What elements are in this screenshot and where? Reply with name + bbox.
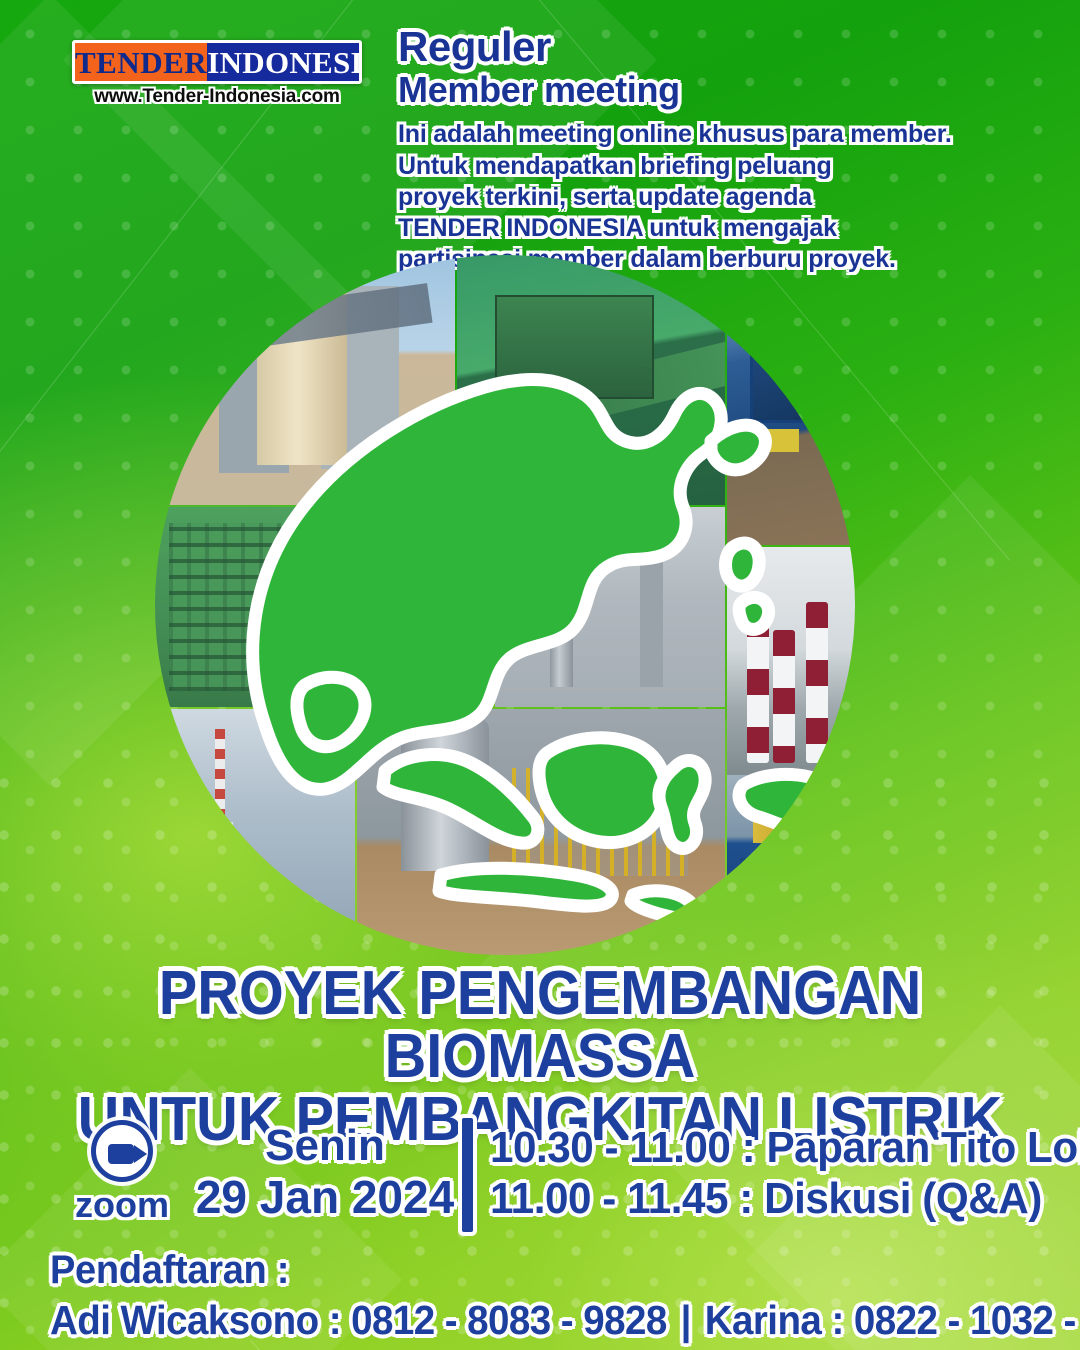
contact-separator: | <box>677 1297 695 1343</box>
schedule-row: zoom Senin 29 Jan 2024 10.30 - 11.00 : P… <box>62 1118 1052 1236</box>
registration-label: Pendaftaran : <box>50 1248 1000 1293</box>
event-date-block: Senin 29 Jan 2024 <box>190 1122 460 1223</box>
tender-indonesia-logo[interactable]: TENDER INDONESIA www.Tender-Indonesia.co… <box>72 40 362 108</box>
collage-tile-steel-framework <box>155 507 295 707</box>
photo-collage-globe <box>155 255 855 955</box>
zoom-video-camera-icon <box>91 1120 153 1182</box>
event-day: Senin <box>190 1122 460 1170</box>
collage-tile-red-white-chimneys <box>727 547 855 777</box>
logo-word-indonesia: INDONESIA <box>207 43 362 81</box>
logo-website-url[interactable]: www.Tender-Indonesia.com <box>72 86 362 108</box>
zoom-platform-label: zoom <box>62 1184 182 1226</box>
contact-2-phone[interactable]: 0822 - 1032 - 5460 <box>854 1297 1080 1343</box>
logo-word-tender: TENDER <box>75 43 207 81</box>
poster-root: TENDER INDONESIA www.Tender-Indonesia.co… <box>0 0 1080 1350</box>
collage-tile-gray-wall-vessel <box>297 507 493 707</box>
header-description-line: Untuk mendapatkan briefing peluang <box>398 151 1058 182</box>
registration-contacts: Adi Wicaksono : 0812 - 8083 - 9828 | Kar… <box>50 1297 990 1344</box>
registration-block: Pendaftaran : Adi Wicaksono : 0812 - 808… <box>50 1248 1050 1344</box>
agenda-list: 10.30 - 11.00 : Paparan Tito Loho 11.00 … <box>490 1122 1052 1224</box>
contact-2-name: Karina : <box>705 1297 844 1343</box>
collage-tile-cement-silo-plant <box>155 255 455 505</box>
collage-tile-biomass-gasifier-plant <box>357 709 725 955</box>
zoom-platform-block[interactable]: zoom <box>62 1118 182 1226</box>
header-block: Reguler Member meeting Ini adalah meetin… <box>398 26 1058 276</box>
logo-badge: TENDER INDONESIA <box>72 40 362 84</box>
collage-tile-conveyor-belt-plant <box>457 255 725 505</box>
main-title-line-1: PROYEK PENGEMBANGAN BIOMASSA <box>38 962 1042 1088</box>
header-description-line: proyek terkini, serta update agenda <box>398 182 1058 213</box>
collage-tile-vertical-pipes <box>495 507 725 707</box>
contact-1-name: Adi Wicaksono : <box>50 1297 341 1343</box>
event-date: 29 Jan 2024 <box>190 1172 460 1223</box>
collage-tile-cooling-towers <box>155 709 355 955</box>
agenda-item: 10.30 - 11.00 : Paparan Tito Loho <box>490 1122 1030 1173</box>
header-title: Reguler <box>398 26 1058 67</box>
vertical-divider <box>462 1118 473 1232</box>
header-subtitle: Member meeting <box>398 71 1058 109</box>
contact-1-phone[interactable]: 0812 - 8083 - 9828 <box>351 1297 667 1343</box>
header-description: Ini adalah meeting online khusus para me… <box>398 119 1058 275</box>
collage-tile-blue-steel-structure <box>727 255 855 545</box>
collage-tile-blue-offshore-rig <box>727 775 855 955</box>
collage-circle-clip <box>155 255 855 955</box>
header-description-line: TENDER INDONESIA untuk mengajak <box>398 213 1058 244</box>
agenda-item: 11.00 - 11.45 : Diskusi (Q&A) <box>490 1173 1030 1224</box>
header-description-line: Ini adalah meeting online khusus para me… <box>398 119 1058 150</box>
